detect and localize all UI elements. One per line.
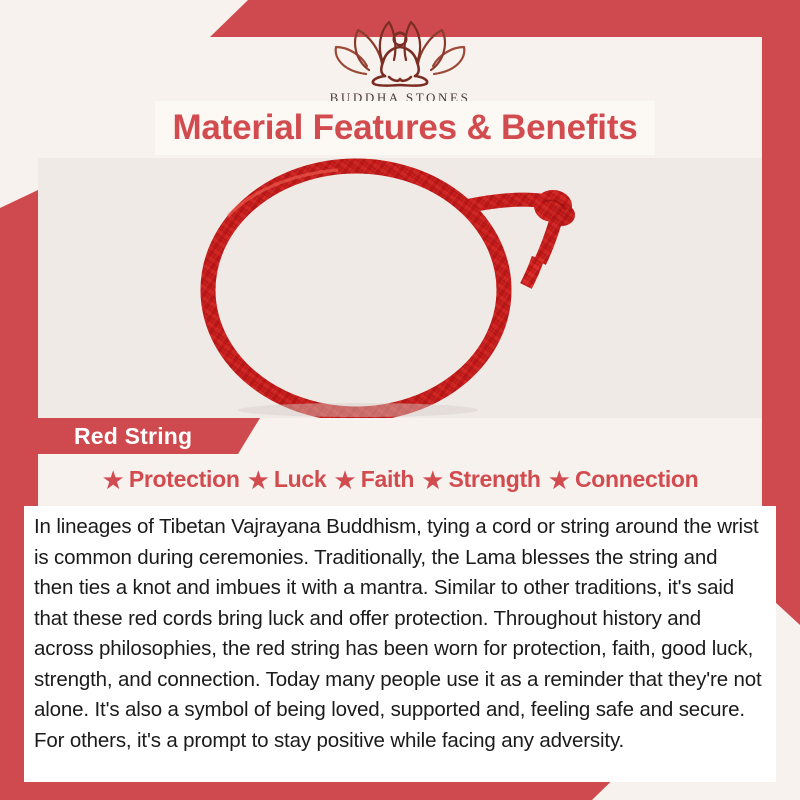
benefit-item-protection: ★ Protection [102, 466, 240, 493]
section-ribbon: Red String [28, 418, 260, 454]
star-icon: ★ [102, 467, 125, 493]
section-ribbon-label: Red String [74, 423, 192, 450]
benefit-item-faith: ★ Faith [333, 466, 414, 493]
benefit-label: Protection [129, 466, 240, 493]
benefit-label: Luck [274, 466, 326, 493]
description-text: In lineages of Tibetan Vajrayana Buddhis… [24, 512, 776, 756]
benefit-item-luck: ★ Luck [247, 466, 327, 493]
hero-image-container [38, 158, 762, 418]
brand-logo-block: BUDDHA STONES [0, 14, 800, 106]
star-icon: ★ [421, 467, 444, 493]
page-title: Material Features & Benefits [172, 108, 637, 148]
benefit-label: Strength [448, 466, 540, 493]
star-icon: ★ [333, 467, 356, 493]
infographic-card: BUDDHA STONES Material Features & Benefi… [0, 0, 800, 800]
red-braided-string-bracelet-photo [38, 158, 762, 418]
benefits-row: ★ Protection ★ Luck ★ Faith ★ Strength ★… [38, 466, 762, 493]
benefit-label: Faith [361, 466, 414, 493]
star-icon: ★ [247, 467, 270, 493]
benefit-label: Connection [575, 466, 699, 493]
benefit-item-strength: ★ Strength [421, 466, 540, 493]
star-icon: ★ [548, 467, 571, 493]
lotus-meditation-icon [325, 14, 475, 88]
benefit-item-connection: ★ Connection [548, 466, 699, 493]
description-panel: In lineages of Tibetan Vajrayana Buddhis… [24, 506, 776, 782]
title-banner: Material Features & Benefits [155, 101, 655, 155]
